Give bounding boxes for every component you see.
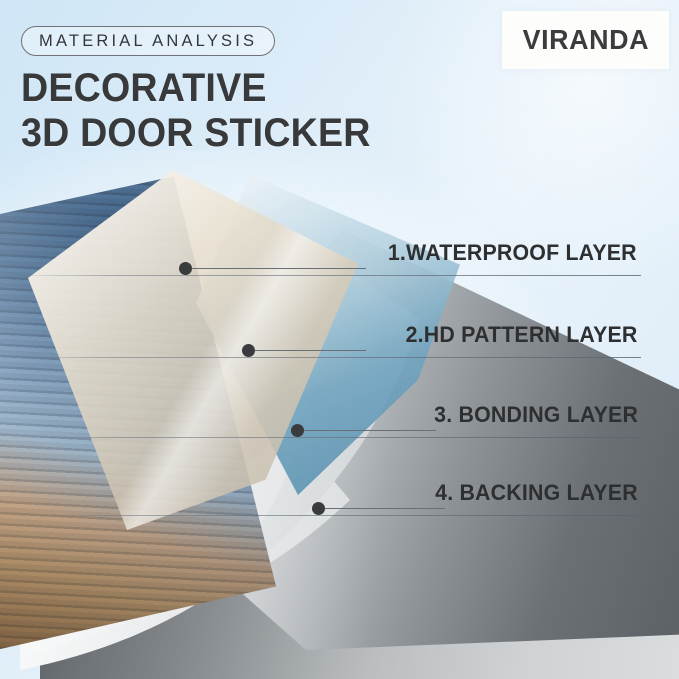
callout-rule-1 [0, 275, 641, 276]
callout-dot-2 [242, 344, 255, 357]
brand-name-label: VIRANDA [522, 24, 648, 56]
callout-4: 4. BACKING LAYER [432, 480, 641, 506]
page-title: DECORATIVE 3D DOOR STICKER [21, 66, 371, 156]
callout-dot-1 [179, 262, 192, 275]
callout-rule-3 [0, 437, 641, 438]
callout-dot-3 [291, 424, 304, 437]
material-analysis-poster: MATERIAL ANALYSIS DECORATIVE 3D DOOR STI… [0, 0, 679, 679]
callout-label-1: 1.WATERPROOF LAYER [388, 240, 637, 266]
brand-logo-box: VIRANDA [502, 11, 669, 69]
callout-rule-4 [0, 515, 641, 516]
callout-label-3: 3. BONDING LAYER [434, 402, 638, 428]
callout-dot-4 [312, 502, 325, 515]
page-title-line-2: 3D DOOR STICKER [21, 111, 371, 156]
material-analysis-badge-label: MATERIAL ANALYSIS [39, 32, 257, 51]
callout-2: 2.HD PATTERN LAYER [402, 322, 641, 348]
callout-rule-2 [0, 357, 641, 358]
callout-3: 3. BONDING LAYER [431, 402, 641, 428]
callout-label-4: 4. BACKING LAYER [435, 480, 638, 506]
page-title-line-1: DECORATIVE [21, 66, 267, 110]
callout-label-2: 2.HD PATTERN LAYER [405, 322, 637, 348]
callout-leader-4 [325, 508, 445, 509]
callout-leader-2 [255, 350, 366, 351]
callout-1: 1.WATERPROOF LAYER [384, 240, 641, 266]
callout-leader-1 [192, 268, 366, 269]
callout-leader-3 [304, 430, 436, 431]
material-analysis-badge: MATERIAL ANALYSIS [21, 26, 275, 56]
